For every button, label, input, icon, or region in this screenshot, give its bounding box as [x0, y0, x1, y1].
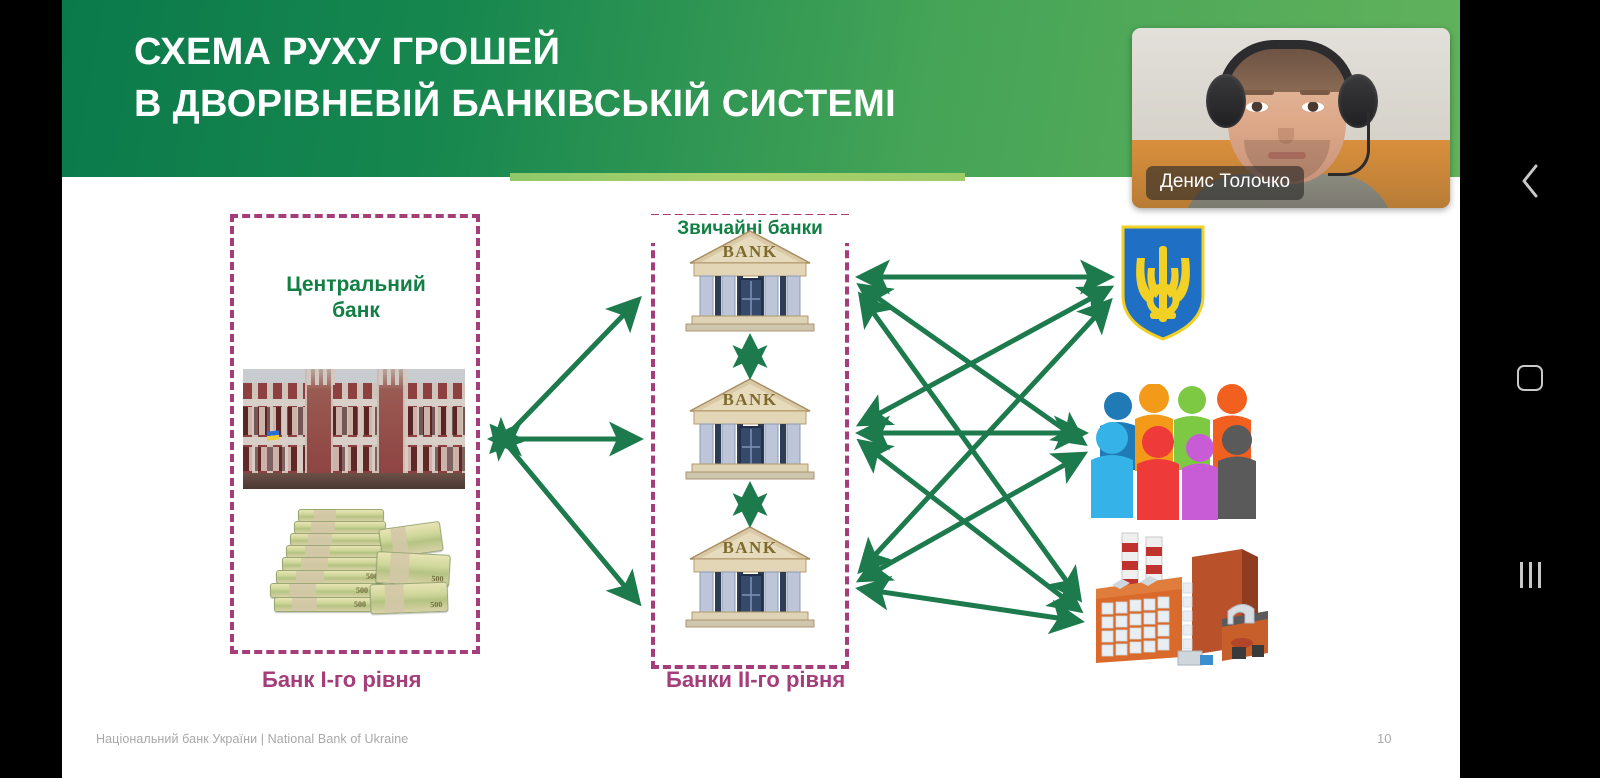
left-black-strip	[0, 0, 62, 778]
page-title: СХЕМА РУХУ ГРОШЕЙ В ДВОРІВНЕВІЙ БАНКІВСЬ…	[134, 26, 1174, 131]
android-navigation-bar	[1460, 0, 1600, 778]
participant-name-label: Денис Толочко	[1146, 166, 1304, 200]
footer-label: Національний банк України | National Ban…	[96, 732, 408, 746]
home-icon	[1517, 365, 1543, 391]
video-mouth	[1268, 152, 1306, 159]
back-chevron-icon[interactable]	[1460, 146, 1600, 216]
chevron-left-icon	[1517, 161, 1543, 201]
headphone-earcup-left-icon	[1206, 74, 1246, 128]
video-participant-tile[interactable]: Денис Толочко	[1132, 28, 1450, 208]
headset-mic-boom-icon	[1328, 112, 1370, 176]
screen: СХЕМА РУХУ ГРОШЕЙ В ДВОРІВНЕВІЙ БАНКІВСЬ…	[0, 0, 1600, 778]
recents-icon	[1520, 562, 1541, 588]
diagram-area: Центральний банк Звичайні банки Банк I-г…	[62, 177, 1460, 717]
video-eye-left	[1246, 102, 1268, 112]
home-square-icon[interactable]	[1460, 343, 1600, 413]
video-eye-right	[1302, 102, 1324, 112]
connection-arrows	[62, 177, 1460, 717]
page-number: 10	[1377, 731, 1391, 746]
recents-bars-icon[interactable]	[1460, 540, 1600, 610]
